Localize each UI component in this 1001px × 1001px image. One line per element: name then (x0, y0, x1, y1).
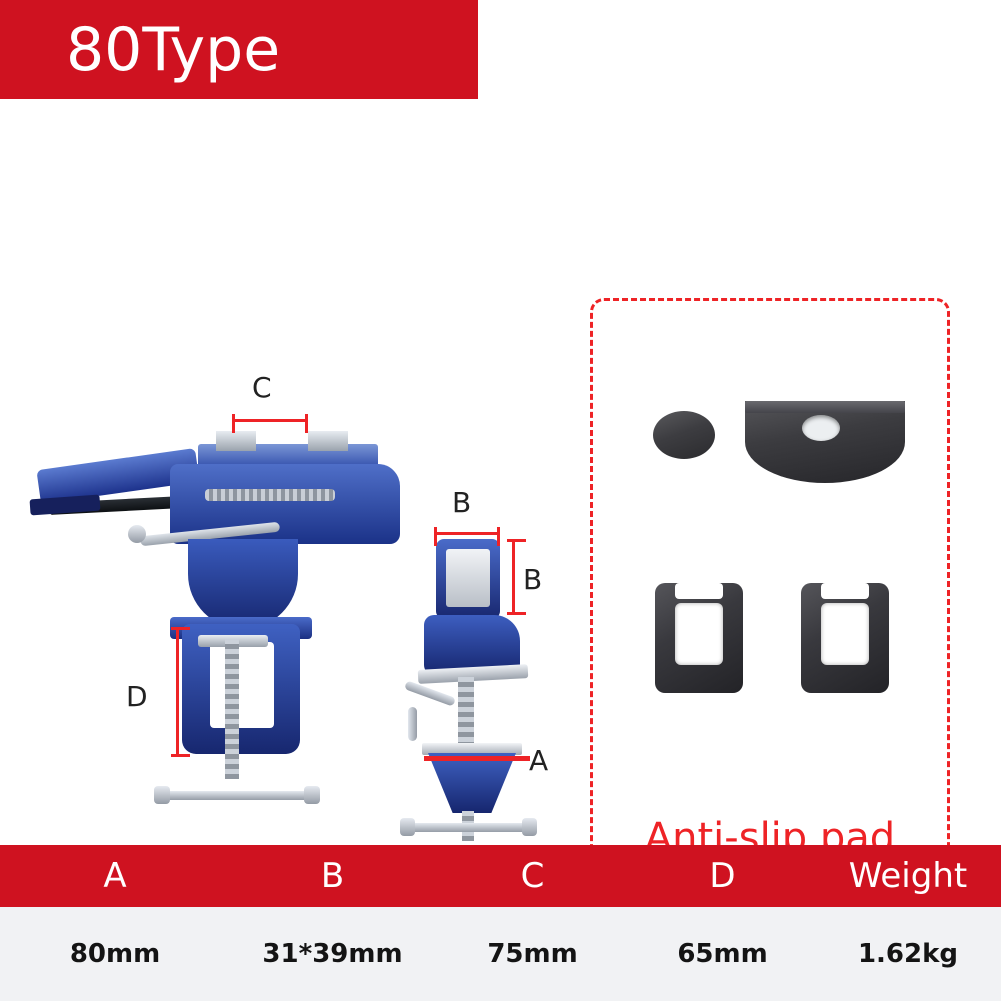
vise-clamp-t-bar (162, 791, 312, 800)
spec-header-b: B (230, 856, 435, 896)
spec-value-b: 31*39mm (230, 939, 435, 969)
spec-header-c: C (435, 856, 630, 896)
vise-lead-screw (205, 489, 335, 501)
type-badge-label: 80Type (0, 20, 280, 80)
side-vise-t-bar-knob-left (400, 818, 415, 836)
dimension-bar-c (232, 419, 308, 422)
dimension-label-b-width: B (452, 486, 471, 519)
spec-header-d: D (630, 856, 815, 896)
side-vise-foot (428, 753, 516, 813)
jaw-cap-pad-left-icon (655, 583, 743, 693)
spec-value-d: 65mm (630, 939, 815, 969)
side-vise-t-bar (408, 823, 528, 832)
side-vise-lock-handle (404, 680, 456, 706)
side-vise-screw (458, 677, 474, 745)
vise-clamp-t-bar-knob-left (154, 786, 170, 804)
vise-swivel-neck (188, 539, 298, 629)
dimension-bar-b-width (434, 532, 500, 535)
vise-jaw-pad-right (308, 431, 348, 451)
side-vise-t-bar-knob-right (522, 818, 537, 836)
spec-value-a: 80mm (0, 939, 230, 969)
spec-header-a: A (0, 856, 230, 896)
dimension-label-c: C (252, 371, 272, 404)
dimension-label-a: A (529, 744, 548, 777)
vise-clamp-screw (225, 639, 239, 779)
jaw-cap-pad-right-icon (801, 583, 889, 693)
swivel-bench-vise-side-view (400, 529, 580, 849)
vise-jaw-pad-left (216, 431, 256, 451)
half-moon-pad-icon (745, 401, 905, 483)
side-vise-top-jaw (436, 539, 500, 619)
swivel-bench-vise-front-view (20, 339, 440, 859)
spec-value-c: 75mm (435, 939, 630, 969)
type-badge: 80Type (0, 0, 478, 99)
dimension-bar-d (176, 627, 179, 757)
spec-table-value-row: 80mm 31*39mm 75mm 65mm 1.62kg (0, 907, 1001, 1001)
vise-handle-knob (128, 525, 146, 543)
spec-header-weight: Weight (815, 856, 1001, 896)
dimension-bar-a (424, 756, 530, 761)
vise-clamp-t-bar-knob-right (304, 786, 320, 804)
spec-table-header-row: A B C D Weight (0, 845, 1001, 907)
dimension-bar-b-height (512, 539, 515, 615)
dimension-label-b-height: B (523, 563, 542, 596)
anti-slip-pad-box: Anti-slip pad (590, 298, 950, 890)
dimension-label-d: D (126, 680, 148, 713)
side-vise-lock-handle-stem (408, 707, 417, 741)
product-photo: C D B B A Anti-slip pad (0, 99, 1001, 840)
spec-table: A B C D Weight 80mm 31*39mm 75mm 65mm 1.… (0, 845, 1001, 1001)
spec-value-weight: 1.62kg (815, 939, 1001, 969)
round-pad-icon (653, 411, 715, 459)
